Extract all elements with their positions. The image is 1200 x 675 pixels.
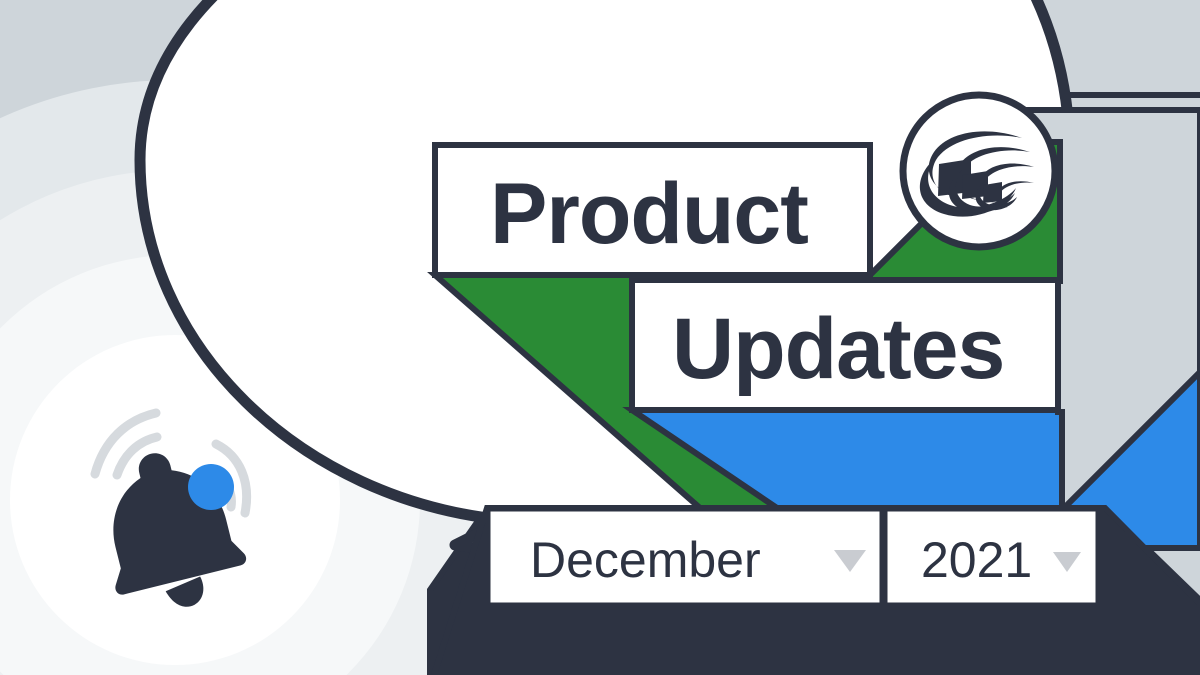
ringing-bell-icon bbox=[86, 413, 254, 623]
bell-notification-layer bbox=[0, 0, 1200, 675]
notification-dot bbox=[188, 464, 234, 510]
hero-banner: Product Updates December 2021 bbox=[0, 0, 1200, 675]
bell-body bbox=[86, 437, 248, 596]
